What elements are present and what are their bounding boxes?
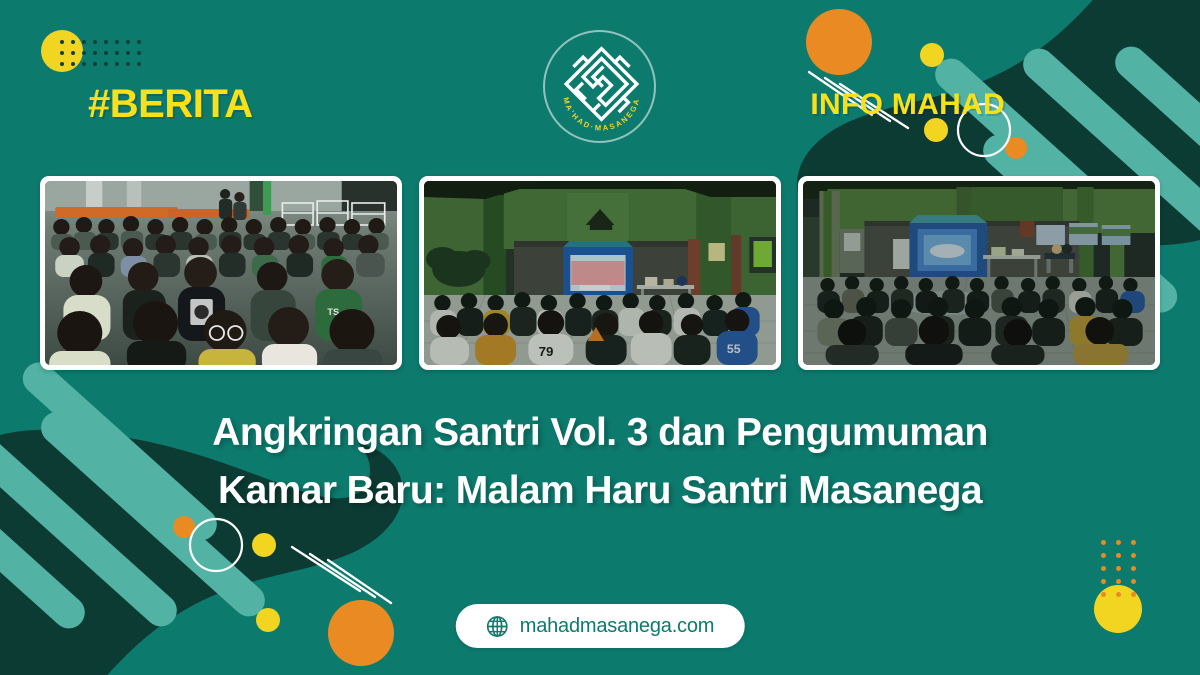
photo-audience-closeup: TS — [45, 181, 397, 365]
photo-hall-wide: 79 55 — [424, 181, 776, 365]
news-poster: #BERITA INFO MAHAD MA'HAD·MASANEGA — [0, 0, 1200, 675]
dot-grid-top-left — [57, 37, 145, 70]
globe-icon — [486, 615, 509, 638]
website-url-text: mahadmasanega.com — [520, 615, 715, 638]
photo-gallery: TS — [40, 176, 1160, 370]
page-title: Angkringan Santri Vol. 3 dan Pengumuman … — [0, 404, 1200, 519]
headline-line-1: Angkringan Santri Vol. 3 dan Pengumuman — [80, 404, 1120, 462]
gallery-photo-1[interactable]: TS — [40, 176, 402, 370]
dot-grid-bottom-right — [1096, 536, 1141, 601]
headline-line-2: Kamar Baru: Malam Haru Santri Masanega — [80, 462, 1120, 520]
category-tag-berita: #BERITA — [88, 82, 253, 127]
gallery-photo-2[interactable]: 79 55 — [419, 176, 781, 370]
website-badge[interactable]: mahadmasanega.com — [456, 604, 745, 648]
photo-hall-screening — [803, 181, 1155, 365]
section-tag-info-mahad: INFO MAHAD — [810, 88, 1005, 122]
gallery-photo-3[interactable] — [798, 176, 1160, 370]
mahad-masanega-logo: MA'HAD·MASANEGA — [543, 30, 656, 143]
